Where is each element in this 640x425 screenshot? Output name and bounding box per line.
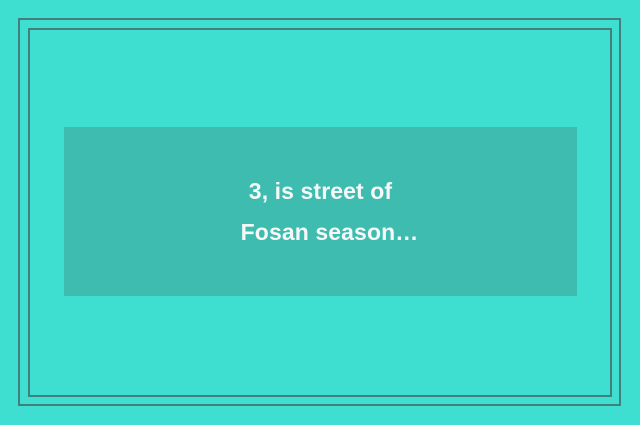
quote-line-1: 3, is street of [249,171,392,212]
quote-line-2: Fosan season… [223,212,419,253]
quote-panel: 3, is street of Fosan season… [64,127,577,296]
slide-canvas: 3, is street of Fosan season… [0,0,640,425]
